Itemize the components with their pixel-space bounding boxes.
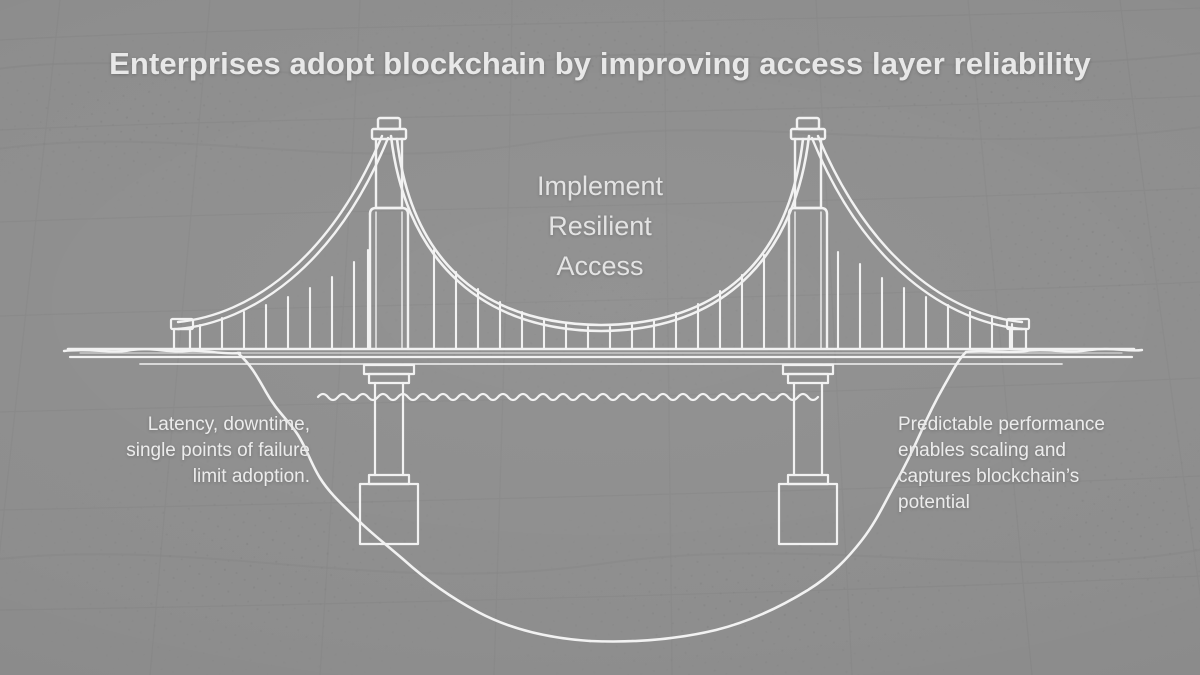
caption-right-line-3: captures blockchain’s xyxy=(898,464,1188,490)
caption-left-line-3: limit adoption. xyxy=(30,464,310,490)
main-cable-right-backstay-inner xyxy=(812,138,1022,329)
slide-canvas: Enterprises adopt blockchain by improvin… xyxy=(0,0,1200,675)
left-tower xyxy=(370,118,408,348)
suspender-cables-left-span xyxy=(200,250,368,348)
right-anchorage xyxy=(1007,319,1029,349)
main-cable-left-backstay-outer xyxy=(178,136,382,322)
right-pier xyxy=(779,365,837,544)
caption-right: Predictable performance enables scaling … xyxy=(898,412,1188,516)
caption-right-line-2: enables scaling and xyxy=(898,438,1188,464)
caption-left-line-2: single points of failure xyxy=(30,438,310,464)
center-label-line-2: Resilient xyxy=(440,206,760,246)
left-pier xyxy=(360,365,418,544)
caption-left: Latency, downtime, single points of fail… xyxy=(30,412,310,490)
bridge-illustration xyxy=(0,0,1200,675)
page-title: Enterprises adopt blockchain by improvin… xyxy=(0,46,1200,82)
caption-left-line-1: Latency, downtime, xyxy=(30,412,310,438)
main-cable-left-backstay-inner xyxy=(178,138,388,329)
center-label-line-3: Access xyxy=(440,246,760,286)
caption-right-line-4: potential xyxy=(898,490,1188,516)
waterline xyxy=(318,394,818,400)
seabed-left xyxy=(238,353,590,641)
suspender-cables-right-span xyxy=(838,252,1012,348)
main-cable-right-backstay-outer xyxy=(818,136,1022,322)
center-label: Implement Resilient Access xyxy=(440,166,760,286)
center-label-line-1: Implement xyxy=(440,166,760,206)
left-anchorage xyxy=(171,319,193,349)
caption-right-line-1: Predictable performance xyxy=(898,412,1188,438)
